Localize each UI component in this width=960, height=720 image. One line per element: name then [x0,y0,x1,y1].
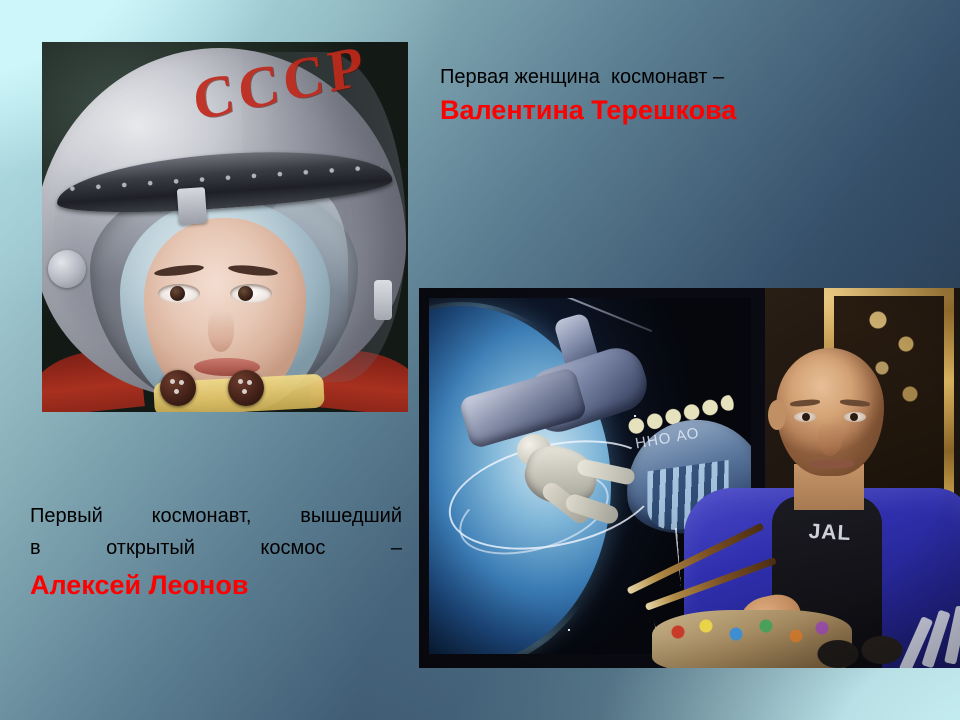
tereshkova-caption-line1: Первая женщина космонавт – [440,62,920,92]
tereshkova-nose [208,310,234,352]
caption-tereshkova: Первая женщина космонавт – Валентина Тер… [440,62,920,128]
caption-leonov: Первый космонавт, вышедший в открытый ко… [30,500,402,604]
leonov-mouth [810,460,854,468]
leonov-ear [768,400,786,430]
helmet-knob-left [160,370,196,406]
leonov-nose [818,422,842,456]
leonov-figure: JAL [698,338,960,668]
helmet-side-tab [374,280,392,320]
helmet-knob-right [228,370,264,406]
leonov-pupil-right [850,413,858,421]
leonov-caption-line1: Первый космонавт, вышедший [30,500,402,532]
jacket-letters-text: JAL [801,515,859,552]
tereshkova-pupil-right [238,286,253,301]
leonov-head [776,348,884,476]
photo-leonov: ННО АО JAL [419,288,960,668]
tereshkova-pupil-left [170,286,185,301]
helmet-side-boss [48,250,86,288]
tereshkova-name: Валентина Терешкова [440,92,920,128]
slide-canvas: СССР [0,0,960,720]
leonov-caption-line2: в открытый космос – [30,532,402,564]
paint-cups [816,636,908,668]
visor-rim-clip [177,187,207,225]
leonov-pupil-left [802,413,810,421]
leonov-name: Алексей Леонов [30,566,402,604]
photo-tereshkova: СССР [42,42,408,412]
